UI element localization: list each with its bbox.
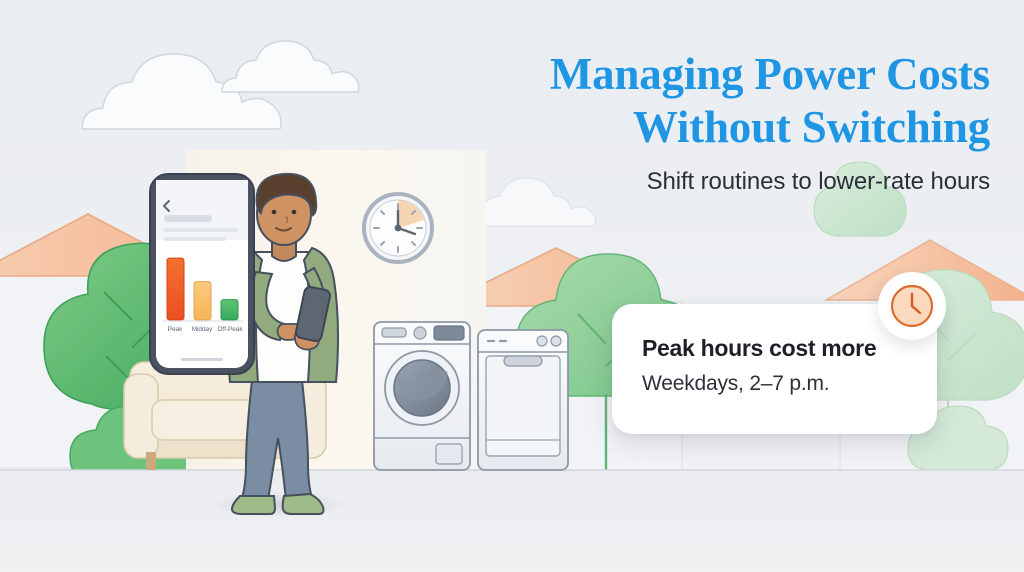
bar-label-peak: Peak [168,326,183,333]
illustration-banner: Peak Midday Off-Peak Managing Power Cost… [0,0,1024,572]
headline-line-2: Without Switching [470,101,990,154]
person-shadow [209,492,349,518]
clock-badge [878,272,946,340]
headline-line-1: Managing Power Costs [550,49,990,99]
page-title: Managing Power Costs Without Switching [470,48,990,154]
dishwasher [478,330,568,470]
washing-machine [374,322,470,470]
clock-icon [888,282,936,330]
phone-mockup: Peak Midday Off-Peak [150,174,254,374]
floor [0,470,1024,572]
bar-label-offpeak: Off-Peak [217,326,243,333]
page-subtitle: Shift routines to lower-rate hours [470,168,990,196]
wall-clock-icon [364,194,432,262]
bar-label-midday: Midday [192,326,213,333]
callout-card-title: Peak hours cost more [642,335,876,362]
callout-card-subtitle: Weekdays, 2–7 p.m. [642,372,829,396]
